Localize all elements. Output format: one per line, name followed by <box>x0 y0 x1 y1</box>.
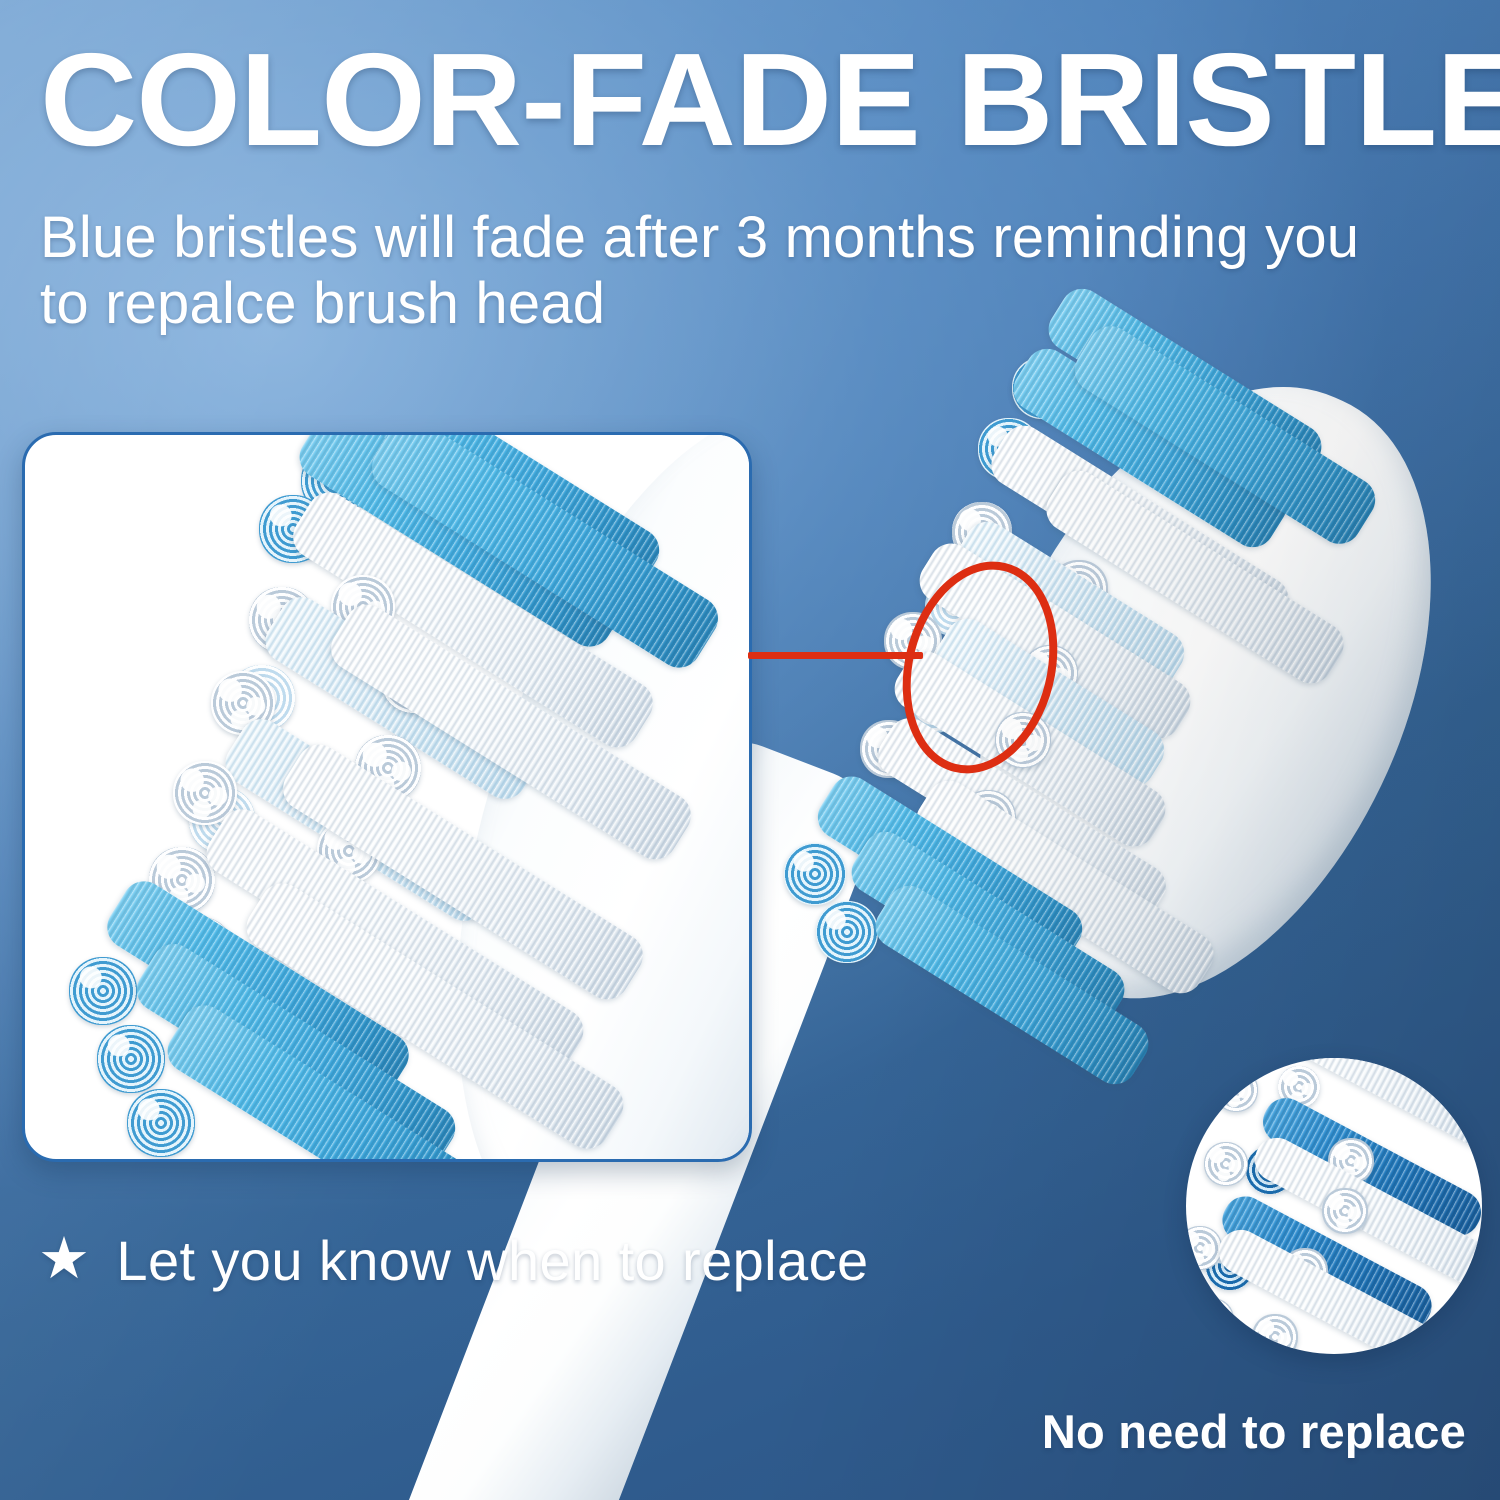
callout-connector-line <box>748 652 923 659</box>
subtitle-line-1: Blue bristles will fade after 3 months r… <box>40 205 1465 271</box>
bristle-tip <box>97 1025 165 1093</box>
magnified-bristle-photo <box>25 435 749 1159</box>
subtitle: Blue bristles will fade after 3 months r… <box>40 205 1465 337</box>
bristle-tip <box>1190 1298 1234 1342</box>
star-icon: ★ <box>38 1230 90 1288</box>
vivid-bristles-inset <box>1186 1058 1482 1354</box>
subtitle-line-2: to repalce brush head <box>40 271 1465 337</box>
bristle-tip <box>69 957 137 1025</box>
bristle-tip <box>784 843 846 905</box>
bristle-tip <box>1204 1142 1248 1186</box>
bristle-tip <box>1322 1188 1368 1234</box>
page-title: COLOR-FADE BRISTLE <box>40 34 1499 166</box>
no-replace-caption: No need to replace <box>1042 1404 1466 1459</box>
replace-caption: ★ Let you know when to replace <box>38 1228 869 1293</box>
promo-image-canvas: COLOR-FADE BRISTLE Blue bristles will fa… <box>0 0 1500 1500</box>
replace-caption-text: Let you know when to replace <box>116 1228 868 1293</box>
vivid-bristles-photo <box>1186 1058 1482 1354</box>
bristle-tip <box>1252 1314 1298 1354</box>
bristle-tip <box>127 1089 195 1157</box>
bristle-tip <box>1214 1068 1258 1112</box>
magnified-bristle-card <box>22 432 752 1162</box>
bristle-tip <box>816 901 878 963</box>
